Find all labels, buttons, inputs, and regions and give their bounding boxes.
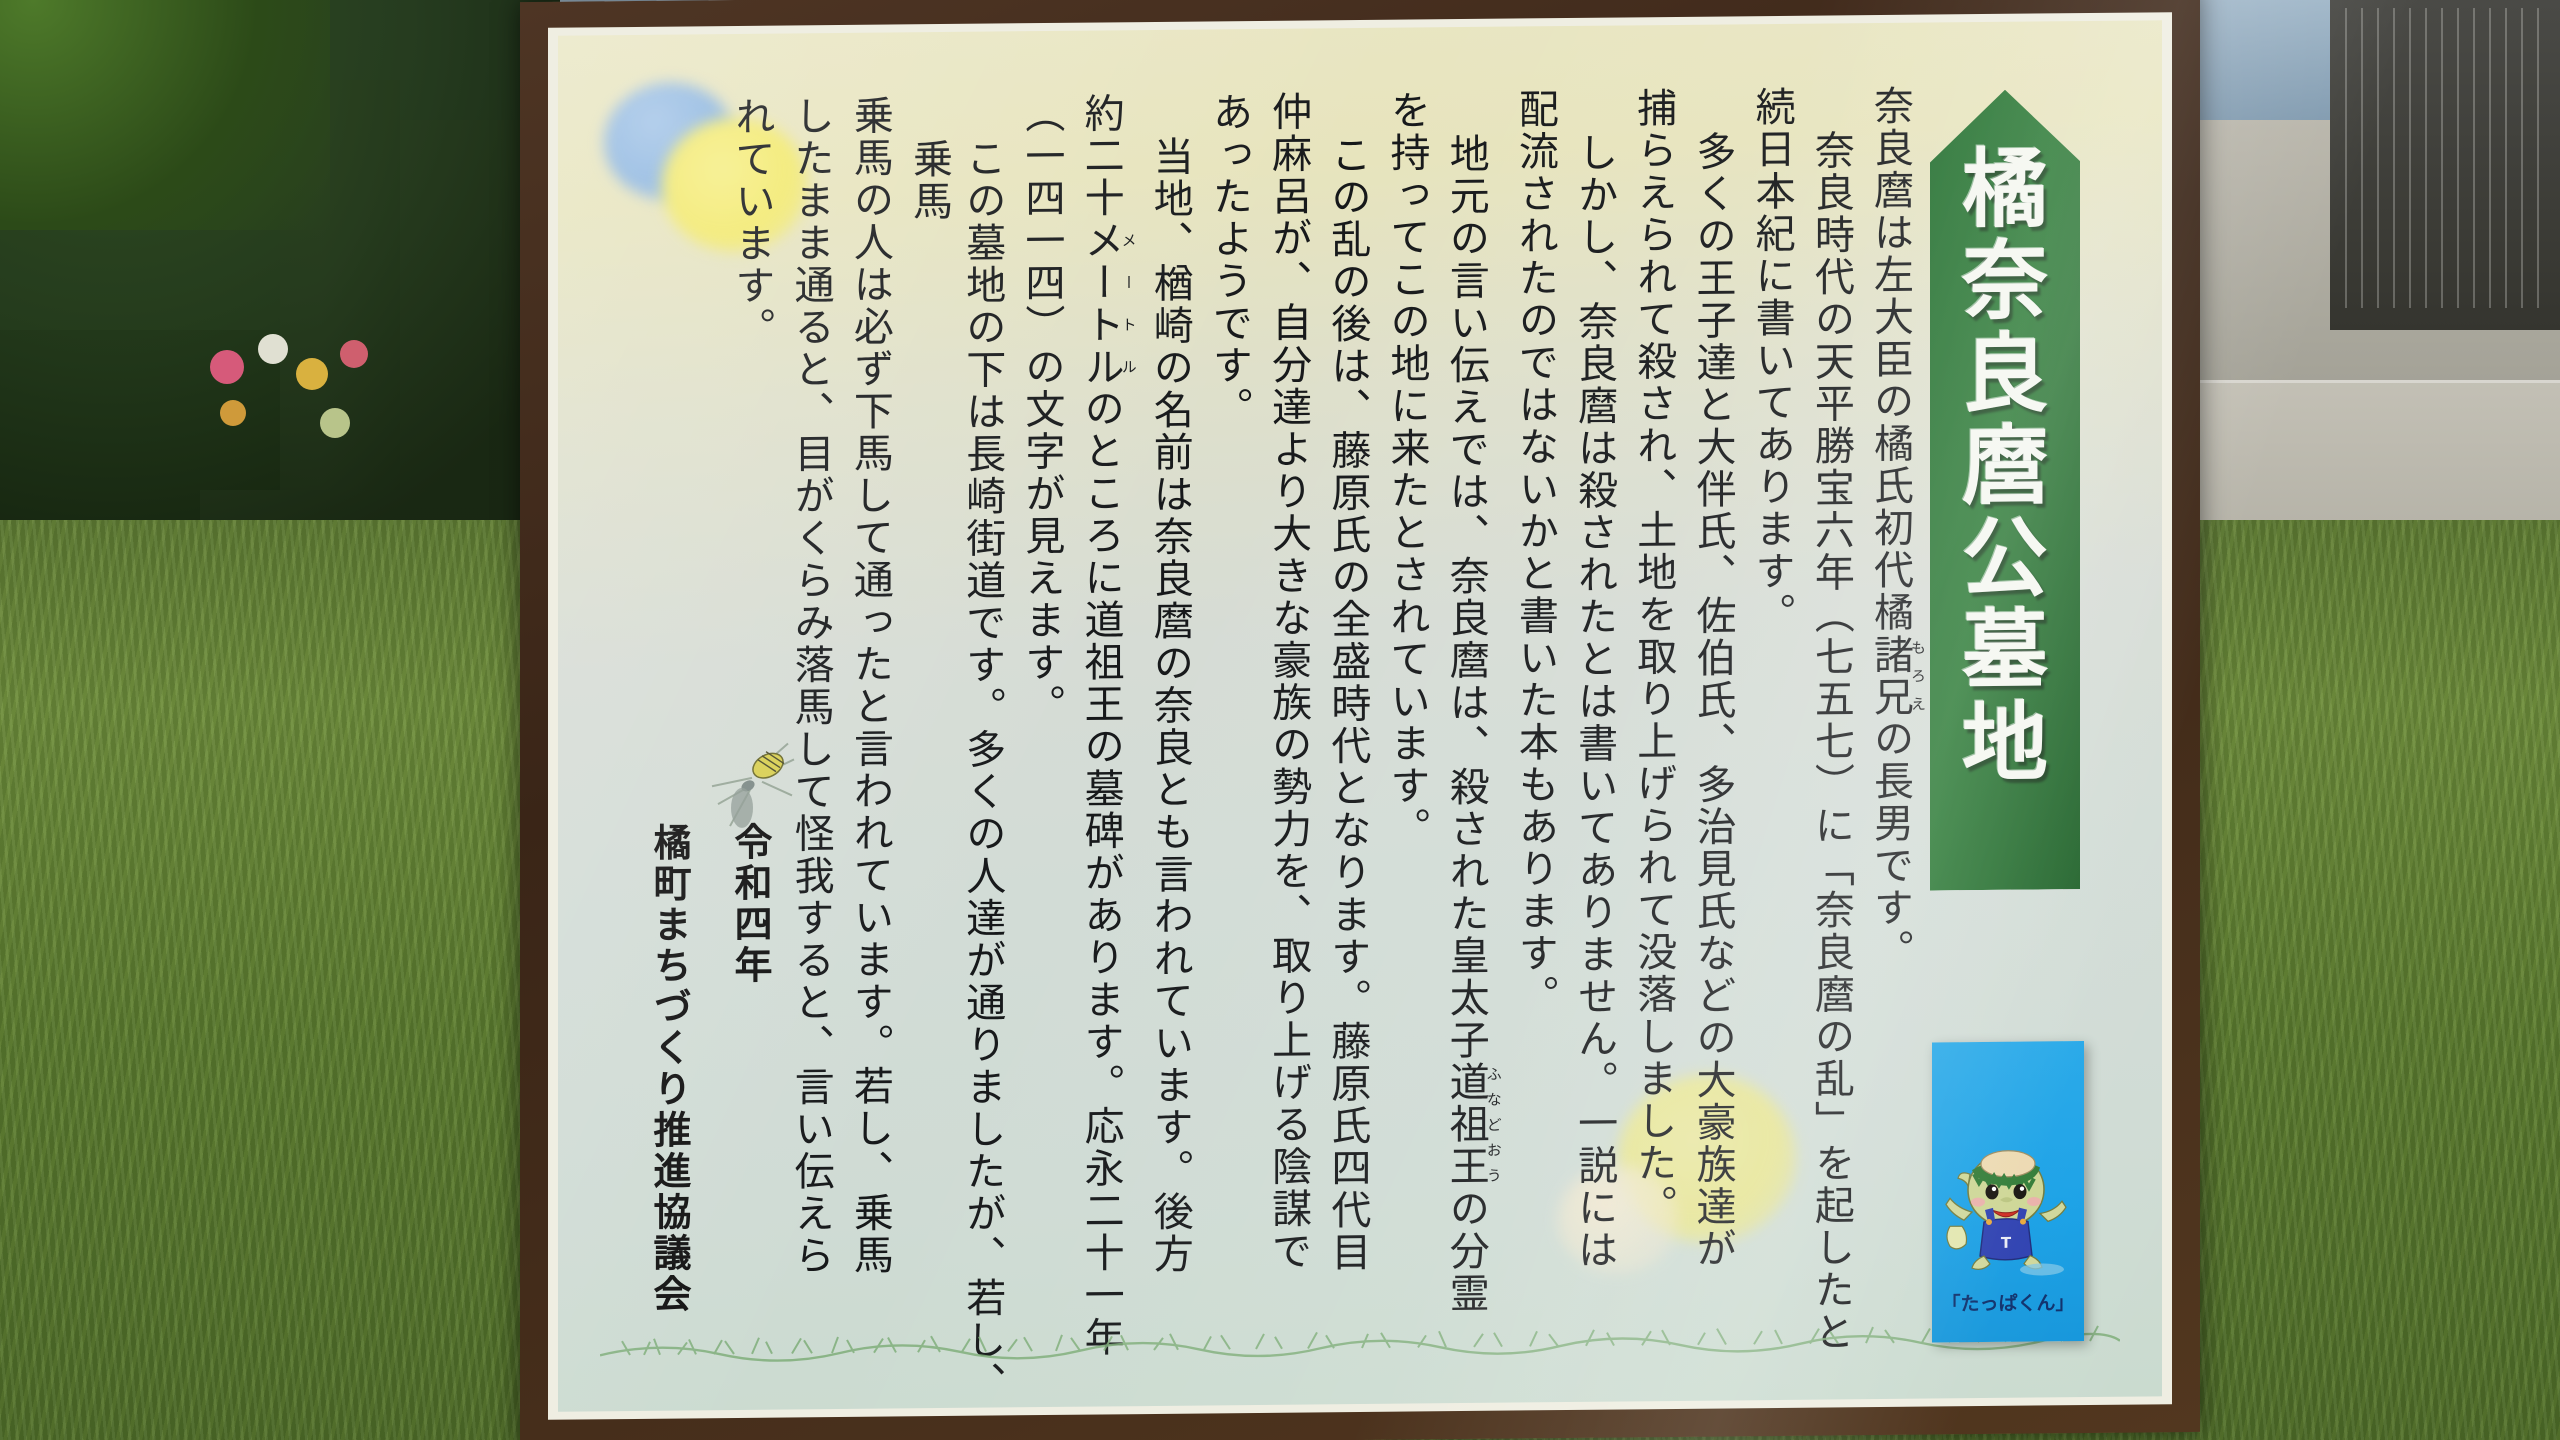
background-monument-inscription — [2345, 8, 2550, 308]
photo-scene: 奈良麿は左大臣の橘氏初代橘諸兄もろえの長男です。 奈良時代の天平勝宝六年（七五七… — [0, 0, 2560, 1440]
signboard-face: 奈良麿は左大臣の橘氏初代橘諸兄もろえの長男です。 奈良時代の天平勝宝六年（七五七… — [558, 20, 2162, 1411]
background-flowers — [200, 330, 430, 530]
signboard-inner-frame: 奈良麿は左大臣の橘氏初代橘諸兄もろえの長男です。 奈良時代の天平勝宝六年（七五七… — [548, 12, 2172, 1420]
board-glare — [558, 20, 2162, 1411]
background-foliage — [0, 0, 330, 230]
signboard-frame: 奈良麿は左大臣の橘氏初代橘諸兄もろえの長男です。 奈良時代の天平勝宝六年（七五七… — [520, 0, 2200, 1440]
